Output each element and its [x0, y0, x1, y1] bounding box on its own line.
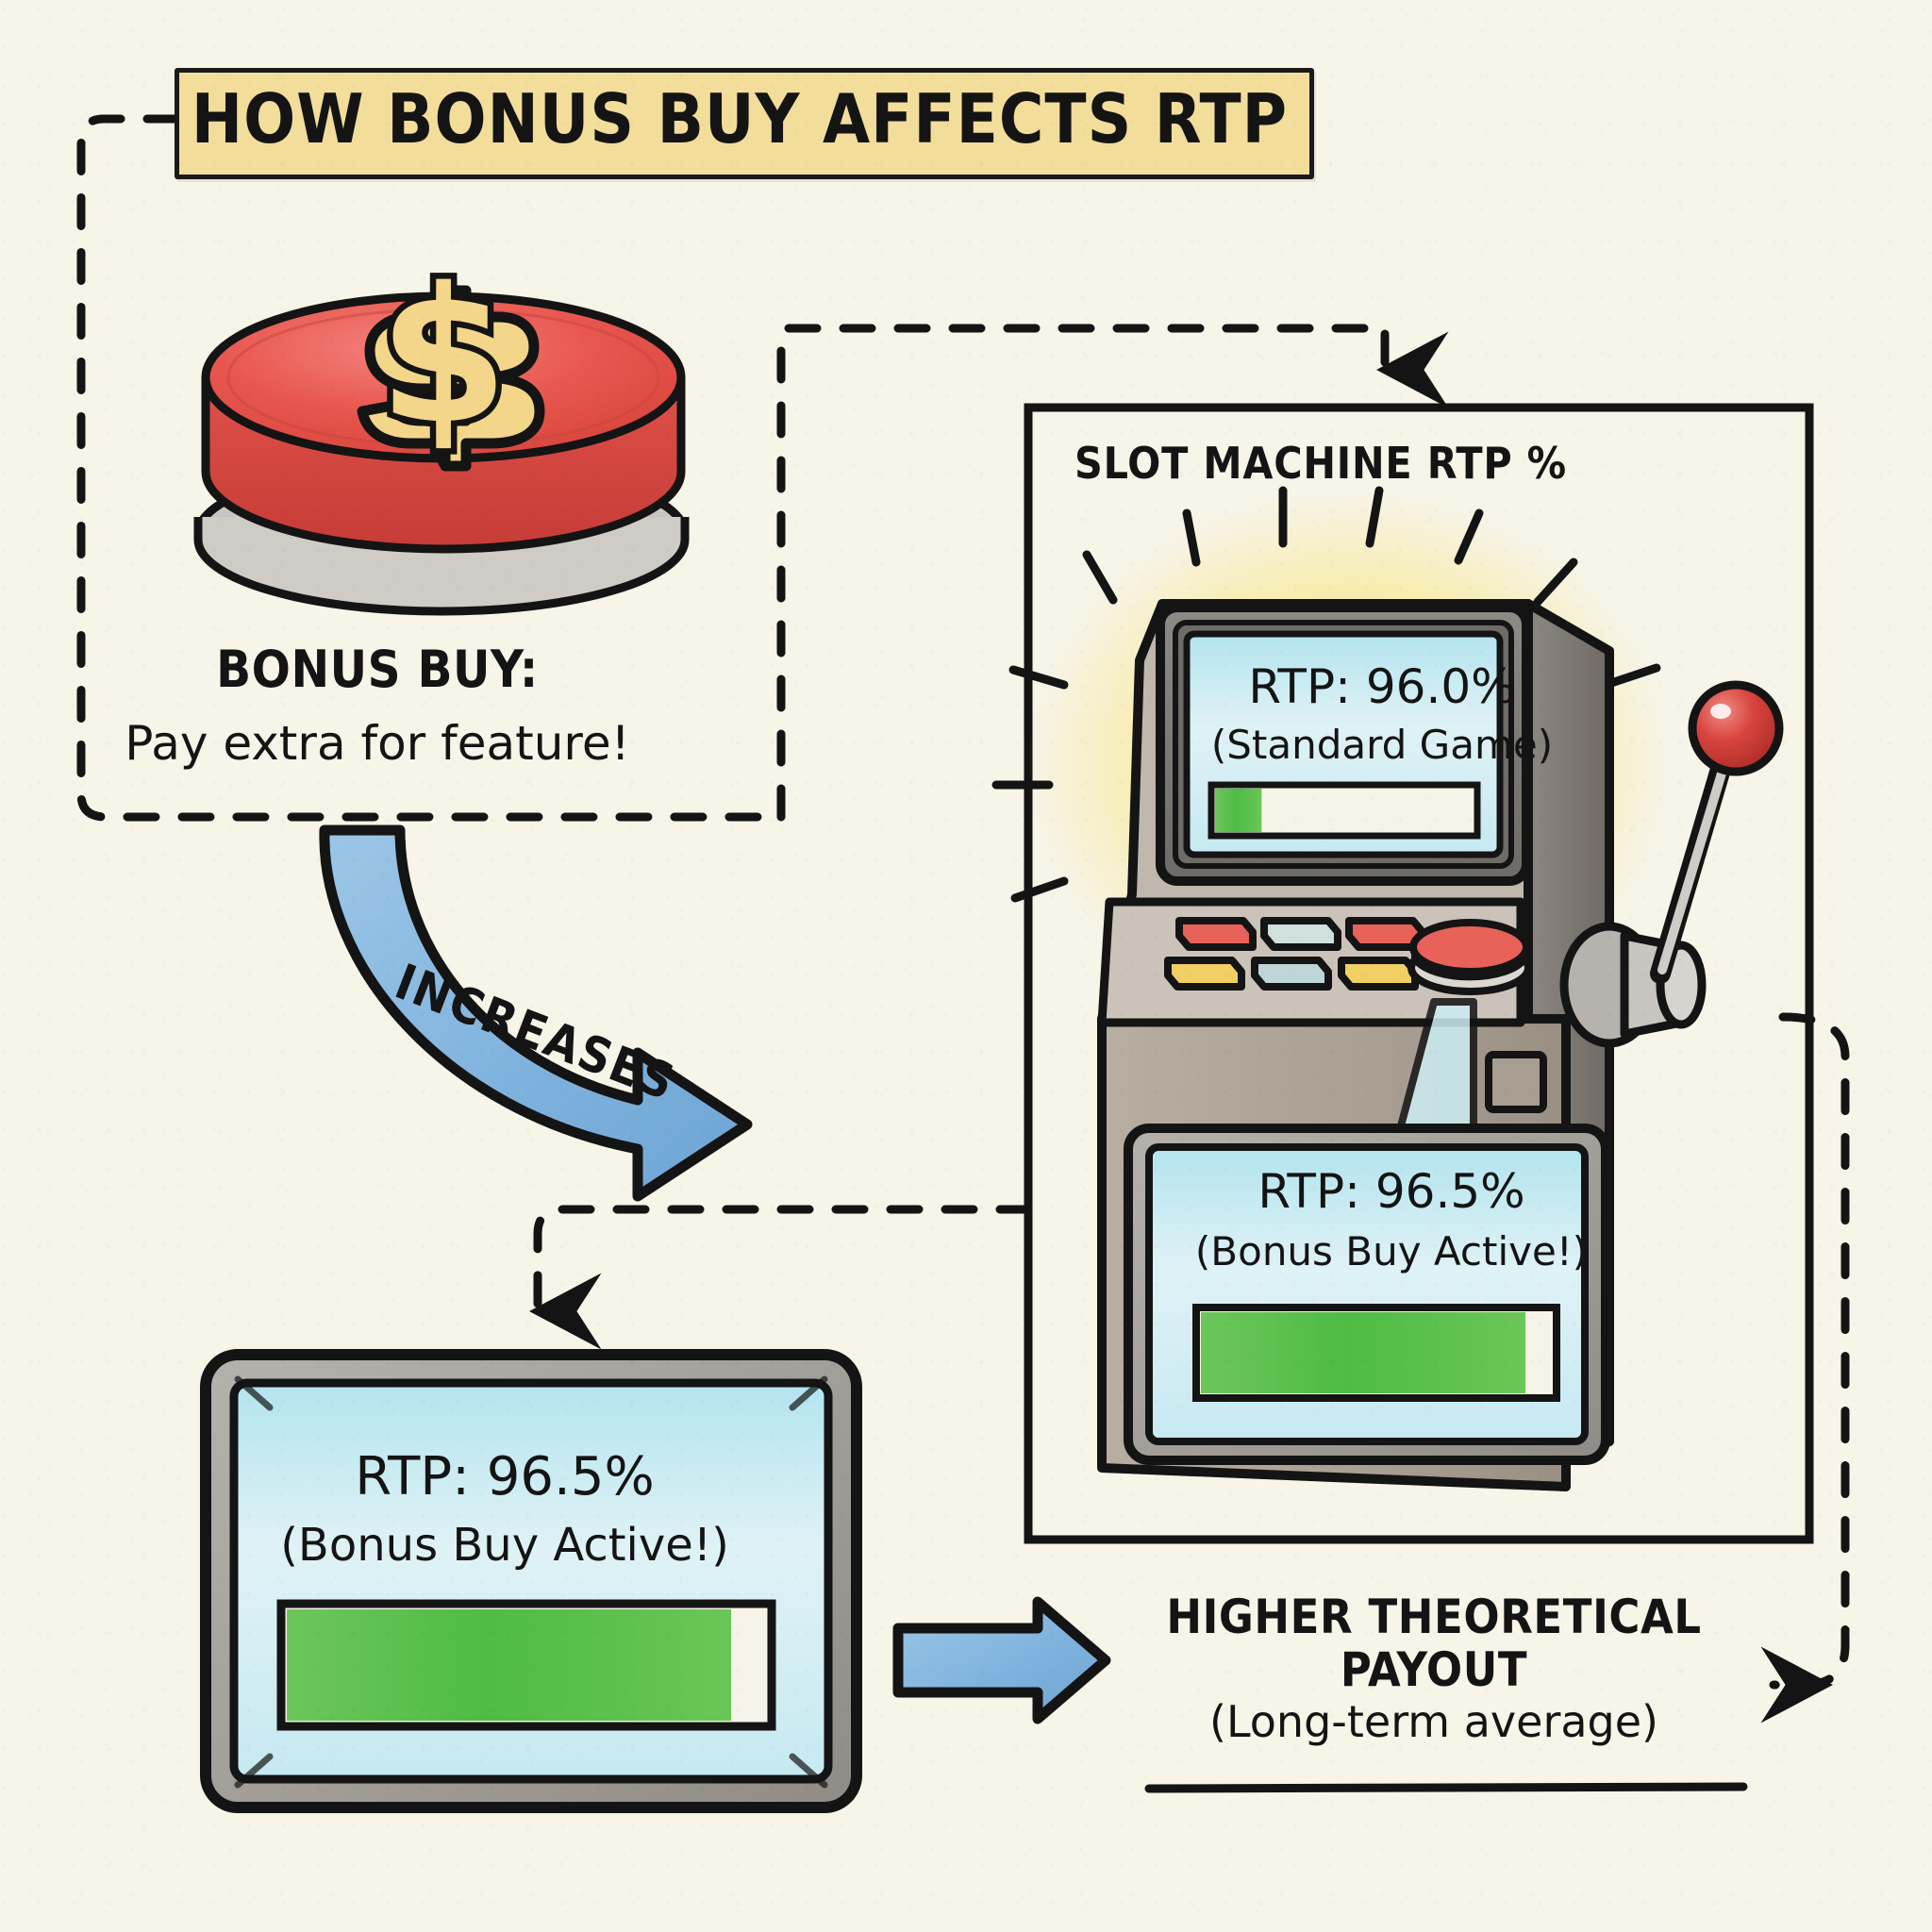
- dollar-sign-glyph: $: [378, 247, 508, 465]
- payout-headline-line1: HIGHER THEORETICAL: [1104, 1591, 1764, 1643]
- button-red-1: [1179, 921, 1253, 947]
- slot-panel-heading: SLOT MACHINE RTP %: [1000, 440, 1641, 489]
- button-teal-2: [1255, 960, 1328, 987]
- result-monitor-illustration: [206, 1355, 857, 1807]
- bottom-progress-fill: [1201, 1312, 1525, 1393]
- top-progress-fill: [1215, 789, 1261, 832]
- infographic-canvas: $: [0, 0, 1932, 1932]
- bottom-screen-rtp-caption: (Bonus Buy Active!): [1146, 1229, 1637, 1274]
- payout-arrow: [898, 1602, 1106, 1719]
- button-teal-1: [1264, 921, 1338, 947]
- button-yellow-1: [1168, 960, 1241, 987]
- payout-headline-line2: PAYOUT: [1104, 1643, 1764, 1696]
- top-screen-rtp-value: RTP: 96.0%: [1184, 660, 1580, 713]
- payout-underline: [1149, 1787, 1743, 1789]
- bonus-buy-button-illustration[interactable]: $: [198, 247, 685, 611]
- payout-caption: (Long-term average): [1085, 1698, 1783, 1747]
- monitor-progress-fill: [287, 1609, 731, 1721]
- button-yellow-2: [1341, 960, 1415, 987]
- bonus-buy-label: BONUS BUY:: [123, 641, 632, 698]
- spin-button[interactable]: [1411, 923, 1528, 991]
- top-screen-rtp-caption: (Standard Game): [1165, 723, 1599, 767]
- result-monitor-rtp-caption: (Bonus Buy Active!): [222, 1521, 788, 1572]
- result-monitor-rtp-value: RTP: 96.5%: [241, 1448, 769, 1507]
- coin-slot: [1489, 1055, 1543, 1109]
- bottom-screen-rtp-value: RTP: 96.5%: [1170, 1165, 1613, 1218]
- bonus-buy-sublabel: Pay extra for feature!: [104, 717, 651, 770]
- page-title: HOW BONUS BUY AFFECTS RTP: [175, 81, 1305, 158]
